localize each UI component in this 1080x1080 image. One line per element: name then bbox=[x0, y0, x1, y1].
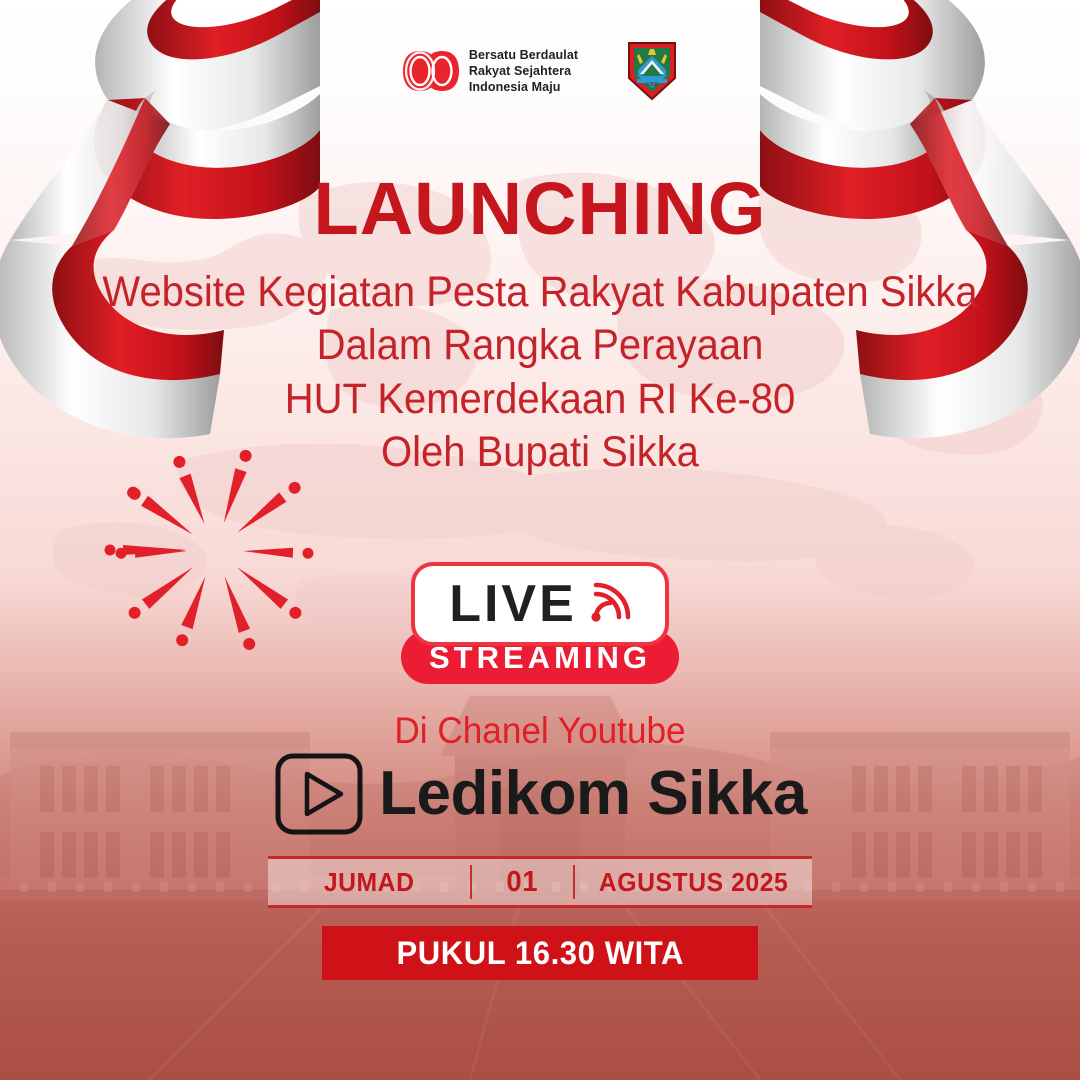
page-title: LAUNCHING bbox=[0, 172, 1080, 246]
date-divider-2 bbox=[573, 865, 575, 899]
subtitle-block: Website Kegiatan Pesta Rakyat Kabupaten … bbox=[38, 266, 1042, 479]
subtitle-line-1: Website Kegiatan Pesta Rakyat Kabupaten … bbox=[38, 266, 1042, 319]
channel-name: Ledikom Sikka bbox=[379, 763, 807, 825]
play-button-icon[interactable] bbox=[273, 752, 365, 836]
sikka-regency-emblem: 1958 bbox=[626, 40, 678, 102]
poster-canvas: Bersatu Berdaulat Rakyat Sejahtera Indon… bbox=[0, 0, 1080, 1080]
subtitle-line-3: HUT Kemerdekaan RI Ke-80 bbox=[38, 373, 1042, 426]
anniversary-80-logo: Bersatu Berdaulat Rakyat Sejahtera Indon… bbox=[402, 47, 578, 95]
event-date-bar: JUMAD 01 AGUSTUS 2025 bbox=[268, 856, 812, 908]
date-divider-1 bbox=[470, 865, 472, 899]
headline-block: LAUNCHING Website Kegiatan Pesta Rakyat … bbox=[0, 172, 1080, 479]
broadcast-wifi-icon bbox=[583, 582, 631, 630]
live-label: LIVE bbox=[449, 578, 577, 630]
event-month-year: AGUSTUS 2025 bbox=[581, 869, 806, 895]
event-time-bar: PUKUL 16.30 WITA bbox=[322, 926, 758, 980]
channel-row: Ledikom Sikka bbox=[0, 752, 1080, 836]
anniversary-tagline: Bersatu Berdaulat Rakyat Sejahtera Indon… bbox=[469, 47, 578, 95]
subtitle-line-4: Oleh Bupati Sikka bbox=[38, 426, 1042, 479]
event-date-number: 01 bbox=[475, 868, 570, 897]
emblem-year: 1958 bbox=[647, 82, 658, 88]
header-logo-row: Bersatu Berdaulat Rakyat Sejahtera Indon… bbox=[0, 40, 1080, 102]
channel-label: Di Chanel Youtube bbox=[27, 710, 1053, 752]
live-streaming-badge: LIVE STREAMING bbox=[0, 562, 1080, 684]
live-badge-box: LIVE bbox=[411, 562, 669, 646]
anniversary-80-logo-mark bbox=[402, 49, 460, 93]
subtitle-line-2: Dalam Rangka Perayaan bbox=[38, 319, 1042, 372]
streaming-label: STREAMING bbox=[429, 642, 651, 673]
event-time: PUKUL 16.30 WITA bbox=[396, 937, 684, 969]
event-day: JUMAD bbox=[273, 869, 465, 895]
